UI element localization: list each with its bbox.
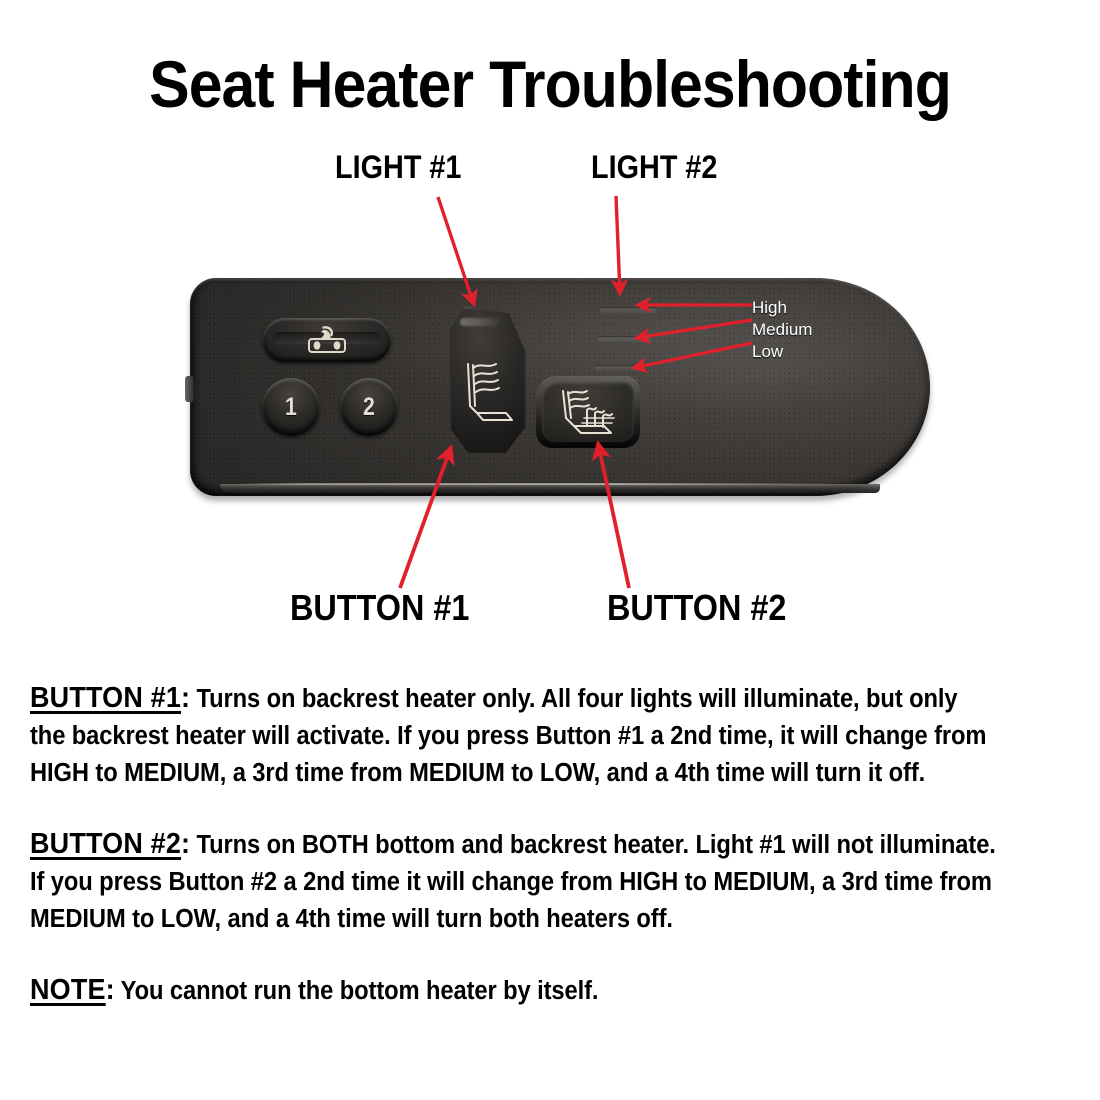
seat-memory-icon	[300, 321, 354, 364]
indicator-label-low: Low	[752, 342, 783, 361]
panel-left-tab	[185, 376, 194, 402]
memory-preset-2-label: 2	[363, 393, 375, 422]
callout-label-light-1: LIGHT #1	[335, 150, 461, 184]
panel-bottom-seam	[236, 483, 836, 485]
callout-label-light-2: LIGHT #2	[591, 150, 717, 184]
heated-seat-and-backrest-icon	[554, 386, 626, 445]
indicator-light-low	[594, 365, 638, 373]
seat-memory-switch[interactable]	[263, 318, 391, 362]
instructions-block: BUTTON #1: Turns on backrest heater only…	[30, 680, 1070, 1010]
button-1-backrest-heater[interactable]	[448, 306, 526, 453]
button-1-gloss	[460, 318, 500, 326]
instruction-paragraph-note: NOTE: You cannot run the bottom heater b…	[30, 972, 997, 1010]
callout-label-button-2: BUTTON #2	[607, 589, 786, 627]
indicator-label-high: High	[752, 298, 787, 317]
memory-preset-button-1[interactable]: 1	[262, 378, 320, 436]
instruction-text-note: You cannot run the bottom heater by itse…	[121, 977, 599, 1005]
seat-control-panel: 1 2	[190, 278, 930, 510]
instruction-colon-button-2: :	[181, 828, 190, 860]
heated-backrest-icon	[456, 356, 518, 439]
instruction-colon-button-1: :	[181, 682, 190, 714]
instruction-colon-note: :	[106, 974, 115, 1006]
page-title: Seat Heater Troubleshooting	[44, 48, 1056, 120]
instruction-lead-button-1: BUTTON #1	[30, 682, 181, 714]
memory-preset-1-label: 1	[285, 393, 297, 422]
memory-preset-button-2[interactable]: 2	[340, 378, 398, 436]
instruction-lead-button-2: BUTTON #2	[30, 828, 181, 860]
instruction-paragraph-button-2: BUTTON #2: Turns on BOTH bottom and back…	[30, 826, 997, 938]
indicator-label-medium: Medium	[752, 320, 812, 339]
instruction-lead-note: NOTE	[30, 974, 106, 1006]
callout-label-button-1: BUTTON #1	[290, 589, 469, 627]
panel-bottom-lip	[220, 484, 880, 493]
indicator-light-medium	[597, 336, 652, 345]
instruction-paragraph-button-1: BUTTON #1: Turns on backrest heater only…	[30, 680, 997, 792]
button-2-both-heaters[interactable]	[542, 381, 634, 442]
indicator-light-high	[599, 307, 657, 316]
